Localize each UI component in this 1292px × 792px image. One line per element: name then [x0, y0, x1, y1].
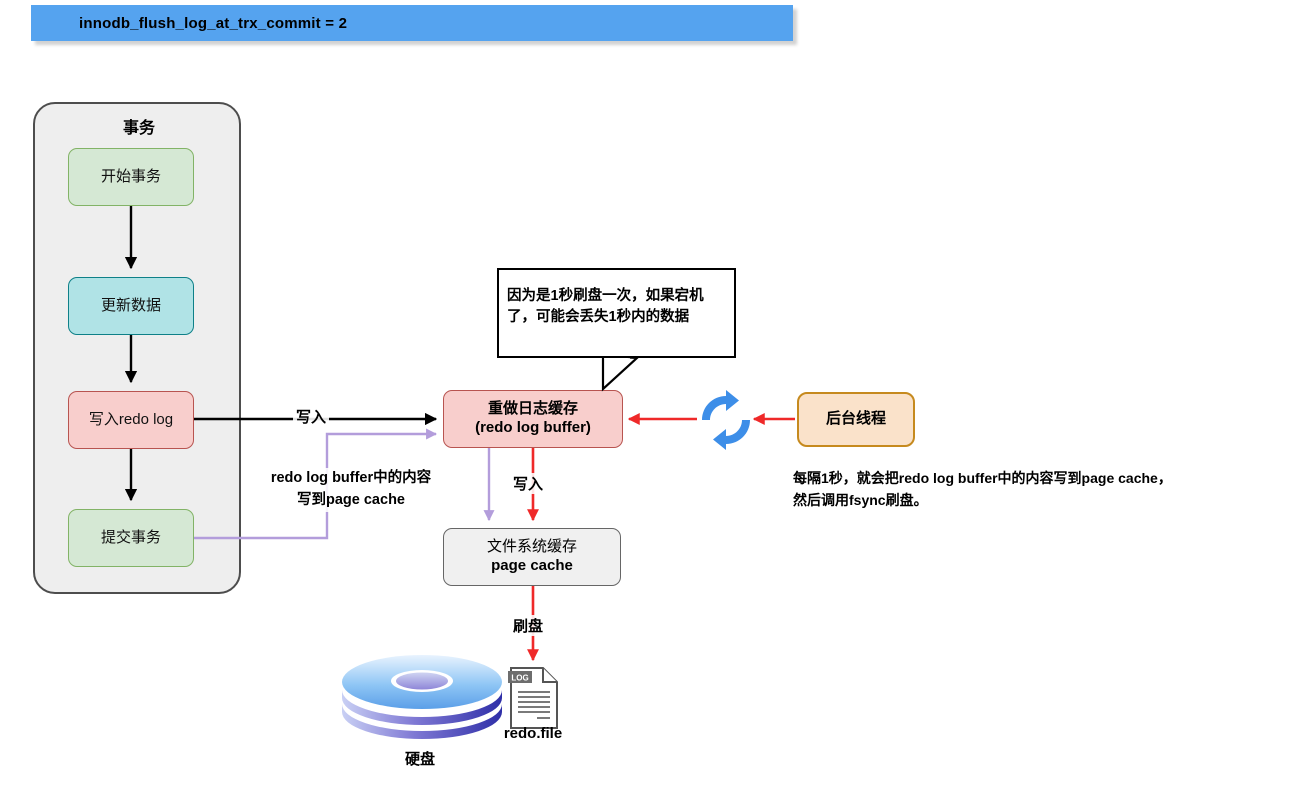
node-page-cache-line1: 文件系统缓存 [487, 538, 577, 557]
edge-label-write-into-buffer: 写入 [293, 406, 329, 427]
transaction-title: 事务 [35, 114, 243, 138]
node-begin-transaction[interactable]: 开始事务 [68, 148, 194, 206]
log-file-icon: LOG [507, 665, 561, 731]
config-title-banner: innodb_flush_log_at_trx_commit = 2 [31, 5, 793, 41]
redo-file-label: redo.file [475, 725, 591, 742]
diagram-canvas: innodb_flush_log_at_trx_commit = 2 事务 开始… [0, 0, 1292, 792]
node-redo-log-buffer-line2: (redo log buffer) [475, 419, 591, 438]
background-thread-note: 每隔1秒，就会把redo log buffer中的内容写到page cache，… [793, 468, 1273, 511]
callout-data-loss-warning: 因为是1秒刷盘一次，如果宕机 了，可能会丢失1秒内的数据 [497, 268, 736, 358]
node-redo-log-buffer[interactable]: 重做日志缓存 (redo log buffer) [443, 390, 623, 448]
node-begin-transaction-label: 开始事务 [101, 168, 161, 187]
callout-line1: 因为是1秒刷盘一次，如果宕机 [507, 288, 704, 304]
node-commit-transaction-label: 提交事务 [101, 529, 161, 548]
node-update-data-label: 更新数据 [101, 297, 161, 316]
node-commit-transaction[interactable]: 提交事务 [68, 509, 194, 567]
hard-disk-label: 硬盘 [362, 748, 478, 769]
callout-line2: 了，可能会丢失1秒内的数据 [507, 309, 689, 325]
config-title-text: innodb_flush_log_at_trx_commit = 2 [79, 15, 347, 32]
node-update-data[interactable]: 更新数据 [68, 277, 194, 335]
log-file-badge-text: LOG [511, 674, 528, 683]
callout-tail [603, 356, 637, 389]
node-page-cache[interactable]: 文件系统缓存 page cache [443, 528, 621, 586]
node-write-redo-log[interactable]: 写入redo log [68, 391, 194, 449]
node-background-thread-label: 后台线程 [826, 410, 886, 429]
node-redo-log-buffer-line1: 重做日志缓存 [488, 400, 578, 419]
node-page-cache-line2: page cache [491, 557, 573, 576]
edge-label-flush-to-disk: 刷盘 [510, 615, 546, 636]
edge-label-purple-buffer-to-pagecache: redo log buffer中的内容 写到page cache [246, 468, 456, 512]
background-thread-note-line1: 每隔1秒，就会把redo log buffer中的内容写到page cache， [793, 470, 1172, 486]
background-thread-note-line2: 然后调用fsync刷盘。 [793, 492, 928, 508]
edge-label-write-to-pagecache: 写入 [510, 473, 546, 494]
edge-label-purple-line1: redo log buffer中的内容 [271, 470, 431, 486]
sync-icon [694, 388, 758, 452]
node-write-redo-log-label: 写入redo log [89, 411, 173, 430]
node-background-thread[interactable]: 后台线程 [797, 392, 915, 447]
edge-label-purple-line2: 写到page cache [297, 492, 405, 508]
